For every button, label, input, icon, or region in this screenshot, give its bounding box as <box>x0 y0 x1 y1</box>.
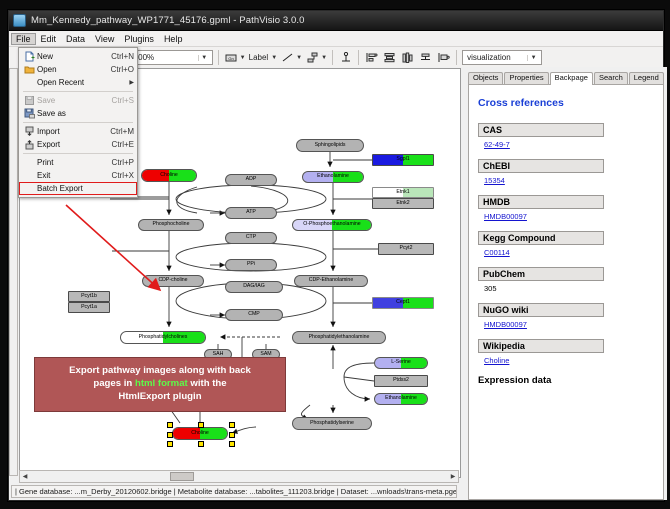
menu-bar: File Edit Data View Plugins Help <box>9 31 663 47</box>
menu-item-save: SaveCtrl+S <box>19 94 137 107</box>
resize-handle[interactable] <box>198 441 204 447</box>
backpage-panel: Cross references CAS62-49-7ChEBI15354HMD… <box>468 84 664 500</box>
node-label: L-Serine <box>391 360 411 365</box>
status-text: | Gene database: ...m_Derby_20120602.bri… <box>15 487 457 496</box>
menu-separator <box>23 91 133 92</box>
line-icon <box>280 50 295 65</box>
xref-source-label: Wikipedia <box>478 339 604 353</box>
node-label: Pcyt1a <box>81 305 97 310</box>
pathway-node-sphingolipids[interactable]: Sphingolipids <box>296 139 364 152</box>
xref-source-label: CAS <box>478 123 604 137</box>
align-middle-icon[interactable] <box>400 50 415 65</box>
node-label: Ethanolamine <box>317 174 349 179</box>
label-tool[interactable]: Label ▼ <box>249 53 278 62</box>
node-label: CDP-Ethanolamine <box>309 278 353 283</box>
pathway-node-cept1[interactable]: Cept1 <box>372 297 434 309</box>
cross-reference-list: CAS62-49-7ChEBI15354HMDBHMDB00097Kegg Co… <box>478 123 654 373</box>
callout-line-2-b: with the <box>188 378 227 389</box>
chevron-down-icon[interactable]: ▼ <box>240 55 246 61</box>
tab-legend[interactable]: Legend <box>629 72 664 84</box>
chevron-down-icon[interactable]: ▼ <box>321 55 327 61</box>
save-disk-icon <box>22 95 37 106</box>
pathway-node-pcyt2[interactable]: Pcyt2 <box>378 243 434 255</box>
cross-references-heading: Cross references <box>478 97 654 109</box>
menu-item-shortcut: Ctrl+E <box>106 140 134 149</box>
xref-entry: HMDBHMDB00097 <box>478 195 654 229</box>
pathway-node-pcyt1a[interactable]: Pcyt1a <box>68 302 110 313</box>
xref-source-label: Kegg Compound <box>478 231 604 245</box>
menu-item-label: Exit <box>37 171 106 180</box>
node-label: CMP <box>248 312 260 317</box>
node-label: Sphingolipids <box>315 143 346 148</box>
pathway-node-ptdss2[interactable]: Ptdss2 <box>374 375 428 387</box>
menu-item-label: Open <box>37 65 105 74</box>
pathvisio-app-icon <box>13 14 26 27</box>
node-label: ADP <box>246 177 257 182</box>
vertical-scrollbar[interactable] <box>9 68 18 476</box>
node-label: Choline <box>160 173 178 178</box>
file-dropdown-menu[interactable]: NewCtrl+NOpenCtrl+OOpen Recent▶SaveCtrl+… <box>18 47 138 198</box>
tab-properties[interactable]: Properties <box>504 72 548 84</box>
menu-view[interactable]: View <box>90 33 119 45</box>
xref-entry: CAS62-49-7 <box>478 123 654 157</box>
node-label: CTP <box>246 235 256 240</box>
chevron-down-icon[interactable]: ▼ <box>271 55 277 61</box>
pathway-node-cdp-choline[interactable]: CDP-choline <box>142 275 204 287</box>
chevron-down-icon[interactable]: ▼ <box>527 55 539 61</box>
menu-file[interactable]: File <box>11 33 36 45</box>
xref-source-label: NuGO wiki <box>478 303 604 317</box>
datanode-tool[interactable]: Gn ▼ <box>224 50 246 65</box>
toolbar-separator <box>456 50 457 65</box>
xref-link[interactable]: HMDB00097 <box>478 209 654 229</box>
scrollbar-thumb[interactable] <box>170 472 194 481</box>
xref-entry: WikipediaCholine <box>478 339 654 373</box>
node-label: Phosphatidylserine <box>310 421 354 426</box>
node-label: Etnk2 <box>396 201 409 206</box>
align-left-icon[interactable] <box>364 50 379 65</box>
xref-source-label: ChEBI <box>478 159 604 173</box>
xref-link[interactable]: C00114 <box>478 245 654 265</box>
pathway-node-pcyt1b[interactable]: Pcyt1b <box>68 291 110 302</box>
menu-item-open-recent[interactable]: Open Recent▶ <box>19 76 137 89</box>
visualization-value: visualization <box>465 53 527 62</box>
menu-item-export[interactable]: ExportCtrl+E <box>19 138 137 151</box>
zoom-value: 100% <box>132 53 198 62</box>
resize-handle[interactable] <box>229 422 235 428</box>
screenshot-root: Mm_Kennedy_pathway_WP1771_45176.gpml - P… <box>0 0 670 509</box>
node-label: Phosphatidylethanolamine <box>309 335 370 340</box>
node-label: ATP <box>246 210 256 215</box>
resize-handle[interactable] <box>167 422 173 428</box>
pathway-node-ethanolamine-top[interactable]: Ethanolamine <box>302 171 364 183</box>
toolbar-separator <box>358 50 359 65</box>
menu-item-shortcut: Ctrl+S <box>106 96 134 105</box>
pathway-node-ctp[interactable]: CTP <box>225 232 277 244</box>
resize-handle[interactable] <box>229 432 235 438</box>
node-label: DAG/IAG <box>243 284 265 289</box>
xref-link[interactable]: 15354 <box>478 173 654 193</box>
xref-entry: PubChem305 <box>478 267 654 301</box>
interaction-icon <box>305 50 320 65</box>
menu-item-batch-export[interactable]: Batch Export <box>19 182 137 195</box>
callout-line-3: HtmlExport plugin <box>118 391 201 402</box>
import-icon <box>22 126 37 137</box>
xref-value: 305 <box>478 281 654 301</box>
menu-item-label: Export <box>37 140 106 149</box>
visualization-combobox[interactable]: visualization ▼ <box>462 50 542 65</box>
side-panel: Objects Properties Backpage Search Legen… <box>459 67 667 500</box>
pathway-node-sgpl1[interactable]: Sgpl1 <box>372 154 434 166</box>
menu-item-label: Batch Export <box>37 184 134 193</box>
line-tool[interactable]: ▼ <box>280 50 302 65</box>
pathvisio-window: Mm_Kennedy_pathway_WP1771_45176.gpml - P… <box>8 10 664 501</box>
pathway-node-o-phosphoethanolamine[interactable]: O-Phosphoethanolamine <box>292 219 372 231</box>
node-label: Cept1 <box>396 300 410 305</box>
menu-item-shortcut: Ctrl+M <box>104 127 134 136</box>
callout-line-2-a: pages in <box>93 378 135 389</box>
pathway-node-cdp-ethanolamine[interactable]: CDP-Ethanolamine <box>294 275 368 287</box>
xref-entry: NuGO wikiHMDB00097 <box>478 303 654 337</box>
xref-entry: ChEBI15354 <box>478 159 654 193</box>
export-icon <box>22 139 37 150</box>
node-label: Phosphatidylcholines <box>139 335 188 340</box>
xref-source-label: HMDB <box>478 195 604 209</box>
menu-item-shortcut: Ctrl+O <box>105 65 134 74</box>
resize-handle[interactable] <box>167 441 173 447</box>
pathway-node-adp[interactable]: ADP <box>225 174 277 186</box>
pathway-node-choline-top[interactable]: Choline <box>141 169 197 182</box>
node-label: Etnk1 <box>396 190 409 195</box>
distribute-icon[interactable] <box>436 50 451 65</box>
pathway-node-ethanolamine-bot[interactable]: Ethanolamine <box>374 393 428 405</box>
folder-open-icon <box>22 64 37 75</box>
xref-link[interactable]: 62-49-7 <box>478 137 654 157</box>
menu-item-label: Save <box>37 96 106 105</box>
pathway-node-choline-bot[interactable]: Choline <box>172 427 228 440</box>
horizontal-scrollbar[interactable]: ◀ ▶ <box>19 470 459 483</box>
pathway-node-phosphatidylcholines[interactable]: Phosphatidylcholines <box>120 331 206 344</box>
pathway-node-etnk2[interactable]: Etnk2 <box>372 198 434 209</box>
tab-backpage[interactable]: Backpage <box>550 72 593 85</box>
menu-separator <box>23 153 133 154</box>
node-label: Sgpl1 <box>396 157 409 162</box>
node-label: Choline <box>191 431 209 436</box>
menu-item-shortcut: Ctrl+X <box>106 171 134 180</box>
anchor-icon[interactable] <box>338 50 353 65</box>
node-label: CDP-choline <box>158 278 187 283</box>
zoom-combobox[interactable]: 100% ▼ <box>129 50 213 65</box>
node-label: Ptdss2 <box>393 378 409 383</box>
tab-objects[interactable]: Objects <box>468 72 503 84</box>
pathway-node-cmp[interactable]: CMP <box>225 309 283 321</box>
node-label: PPi <box>247 262 255 267</box>
label-button-text: Label <box>249 53 269 62</box>
scroll-left-arrow[interactable]: ◀ <box>20 473 30 480</box>
menu-item-print[interactable]: PrintCtrl+P <box>19 156 137 169</box>
xref-entry: Kegg CompoundC00114 <box>478 231 654 265</box>
menu-edit[interactable]: Edit <box>36 33 62 45</box>
status-bar: | Gene database: ...m_Derby_20120602.bri… <box>11 485 457 498</box>
title-bar: Mm_Kennedy_pathway_WP1771_45176.gpml - P… <box>9 11 663 31</box>
node-label: Pcyt1b <box>81 294 97 299</box>
tab-search[interactable]: Search <box>594 72 628 84</box>
menu-item-new[interactable]: NewCtrl+N <box>19 50 137 63</box>
chevron-down-icon[interactable]: ▼ <box>198 55 210 61</box>
side-panel-tabs: Objects Properties Backpage Search Legen… <box>459 70 664 84</box>
pathway-node-etnk1[interactable]: Etnk1 <box>372 187 434 198</box>
pathway-node-l-serine[interactable]: L-Serine <box>374 357 428 369</box>
chevron-down-icon[interactable]: ▼ <box>296 55 302 61</box>
new-document-icon <box>22 51 37 62</box>
callout-line-1: Export pathway images along with back <box>69 365 251 376</box>
toolbar-separator <box>218 50 219 65</box>
expression-data-heading: Expression data <box>478 375 654 386</box>
align-center-icon[interactable] <box>382 50 397 65</box>
menu-item-shortcut: Ctrl+N <box>105 52 134 61</box>
xref-source-label: PubChem <box>478 267 604 281</box>
pathway-node-phosphocholine[interactable]: Phosphocholine <box>138 219 204 231</box>
window-title: Mm_Kennedy_pathway_WP1771_45176.gpml - P… <box>31 15 305 26</box>
annotation-callout: Export pathway images along with back pa… <box>34 357 286 412</box>
pathway-node-atp[interactable]: ATP <box>225 207 277 219</box>
menu-item-exit[interactable]: ExitCtrl+X <box>19 169 137 182</box>
menu-item-save-as[interactable]: Save as <box>19 107 137 120</box>
pathway-node-phosphatidylserine[interactable]: Phosphatidylserine <box>292 417 372 430</box>
menu-item-open[interactable]: OpenCtrl+O <box>19 63 137 76</box>
toolbar-separator <box>332 50 333 65</box>
pathway-node-phosphatidylethanolamine[interactable]: Phosphatidylethanolamine <box>292 331 386 344</box>
submenu-arrow-icon: ▶ <box>123 79 134 86</box>
pathway-node-dag-iag[interactable]: DAG/IAG <box>225 281 283 293</box>
menu-item-label: New <box>37 52 105 61</box>
xref-link[interactable]: HMDB00097 <box>478 317 654 337</box>
menu-item-import[interactable]: ImportCtrl+M <box>19 125 137 138</box>
resize-handle[interactable] <box>229 441 235 447</box>
pathway-node-ppi[interactable]: PPi <box>225 259 277 271</box>
svg-text:Gn: Gn <box>229 56 234 61</box>
xref-link[interactable]: Choline <box>478 353 654 373</box>
menu-separator <box>23 122 133 123</box>
node-label: Pcyt2 <box>400 246 413 251</box>
node-label: O-Phosphoethanolamine <box>303 222 360 227</box>
menu-data[interactable]: Data <box>61 33 90 45</box>
callout-highlight: html format <box>135 378 188 389</box>
scroll-right-arrow[interactable]: ▶ <box>448 473 458 480</box>
stack-icon[interactable] <box>418 50 433 65</box>
menu-plugins[interactable]: Plugins <box>119 33 159 45</box>
menu-item-label: Save as <box>37 109 134 118</box>
node-label: Ethanolamine <box>385 396 417 401</box>
menu-item-shortcut: Ctrl+P <box>106 158 134 167</box>
interaction-tool[interactable]: ▼ <box>305 50 327 65</box>
menu-item-label: Import <box>37 127 104 136</box>
menu-help[interactable]: Help <box>159 33 188 45</box>
datanode-icon: Gn <box>224 50 239 65</box>
node-label: Phosphocholine <box>153 222 190 227</box>
save-as-icon <box>22 108 37 119</box>
menu-item-label: Open Recent <box>37 78 123 87</box>
menu-item-label: Print <box>37 158 106 167</box>
